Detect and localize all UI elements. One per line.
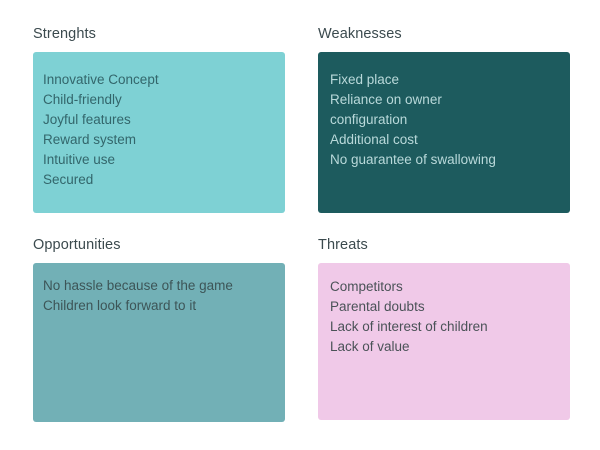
list-item: No guarantee of swallowing (330, 150, 570, 170)
list-item: Competitors (330, 277, 570, 297)
swot-quadrant-weaknesses: Weaknesses Fixed place Reliance on owner… (318, 27, 570, 213)
quadrant-box-weaknesses: Fixed place Reliance on owner configurat… (318, 52, 570, 213)
quadrant-heading-weaknesses: Weaknesses (318, 27, 570, 42)
threats-item-list: Competitors Parental doubts Lack of inte… (330, 277, 570, 357)
swot-diagram: Strenghts Innovative Concept Child-frien… (0, 0, 600, 450)
quadrant-heading-threats: Threats (318, 238, 570, 253)
list-item: Reward system (43, 130, 285, 150)
swot-quadrant-opportunities: Opportunities No hassle because of the g… (33, 238, 285, 422)
quadrant-box-opportunities: No hassle because of the game Children l… (33, 263, 285, 422)
list-item: Fixed place (330, 70, 570, 90)
list-item: Intuitive use (43, 150, 285, 170)
list-item: Additional cost (330, 130, 570, 150)
list-item: Children look forward to it (43, 296, 285, 316)
quadrant-heading-opportunities: Opportunities (33, 238, 285, 253)
quadrant-box-threats: Competitors Parental doubts Lack of inte… (318, 263, 570, 420)
weaknesses-item-list: Fixed place Reliance on owner configurat… (330, 70, 570, 170)
swot-quadrant-threats: Threats Competitors Parental doubts Lack… (318, 238, 570, 420)
list-item: Joyful features (43, 110, 285, 130)
list-item: Child-friendly (43, 90, 285, 110)
list-item: Innovative Concept (43, 70, 285, 90)
strengths-item-list: Innovative Concept Child-friendly Joyful… (43, 70, 285, 190)
swot-quadrant-strengths: Strenghts Innovative Concept Child-frien… (33, 27, 285, 213)
list-item: Reliance on owner (330, 90, 570, 110)
list-item: Secured (43, 170, 285, 190)
list-item: No hassle because of the game (43, 276, 285, 296)
quadrant-heading-strengths: Strenghts (33, 27, 285, 42)
list-item: Parental doubts (330, 297, 570, 317)
list-item: configuration (330, 110, 570, 130)
opportunities-item-list: No hassle because of the game Children l… (43, 276, 285, 316)
quadrant-box-strengths: Innovative Concept Child-friendly Joyful… (33, 52, 285, 213)
list-item: Lack of value (330, 337, 570, 357)
list-item: Lack of interest of children (330, 317, 570, 337)
